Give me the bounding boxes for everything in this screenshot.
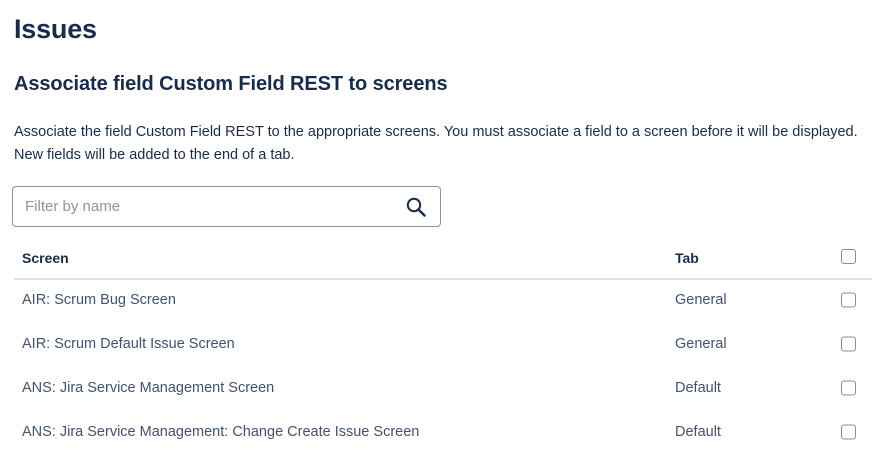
cell-tab-name: General [675,336,727,352]
page-title: Issues [14,13,97,45]
cell-tab-name: General [675,292,727,308]
issues-screen-association-page: Issues Associate field Custom Field REST… [0,0,888,456]
select-all-checkbox[interactable] [841,249,856,264]
column-header-tab: Tab [675,250,699,266]
header-divider [14,278,872,280]
cell-screen-name: AIR: Scrum Bug Screen [22,292,176,308]
cell-screen-name: AIR: Scrum Default Issue Screen [22,336,235,352]
table-row[interactable]: AIR: Scrum Default Issue Screen General [0,322,888,366]
row-checkbox[interactable] [841,337,856,352]
section-title: Associate field Custom Field REST to scr… [14,71,448,97]
page-description: Associate the field Custom Field REST to… [14,121,872,167]
search-icon[interactable] [405,196,427,218]
row-checkbox[interactable] [841,425,856,440]
screens-table: Screen Tab AIR: Scrum Bug Screen General… [0,249,888,454]
table-row[interactable]: AIR: Scrum Bug Screen General [0,278,888,322]
row-checkbox[interactable] [841,381,856,396]
cell-screen-name: ANS: Jira Service Management Screen [22,380,274,396]
column-header-screen: Screen [22,250,69,266]
cell-tab-name: Default [675,380,721,396]
filter-field[interactable] [12,186,441,227]
cell-tab-name: Default [675,424,721,440]
row-checkbox[interactable] [841,293,856,308]
table-header-row: Screen Tab [0,249,888,278]
cell-screen-name: ANS: Jira Service Management: Change Cre… [22,424,419,440]
search-input[interactable] [13,187,398,226]
table-row[interactable]: ANS: Jira Service Management: Change Cre… [0,410,888,454]
table-row[interactable]: ANS: Jira Service Management Screen Defa… [0,366,888,410]
